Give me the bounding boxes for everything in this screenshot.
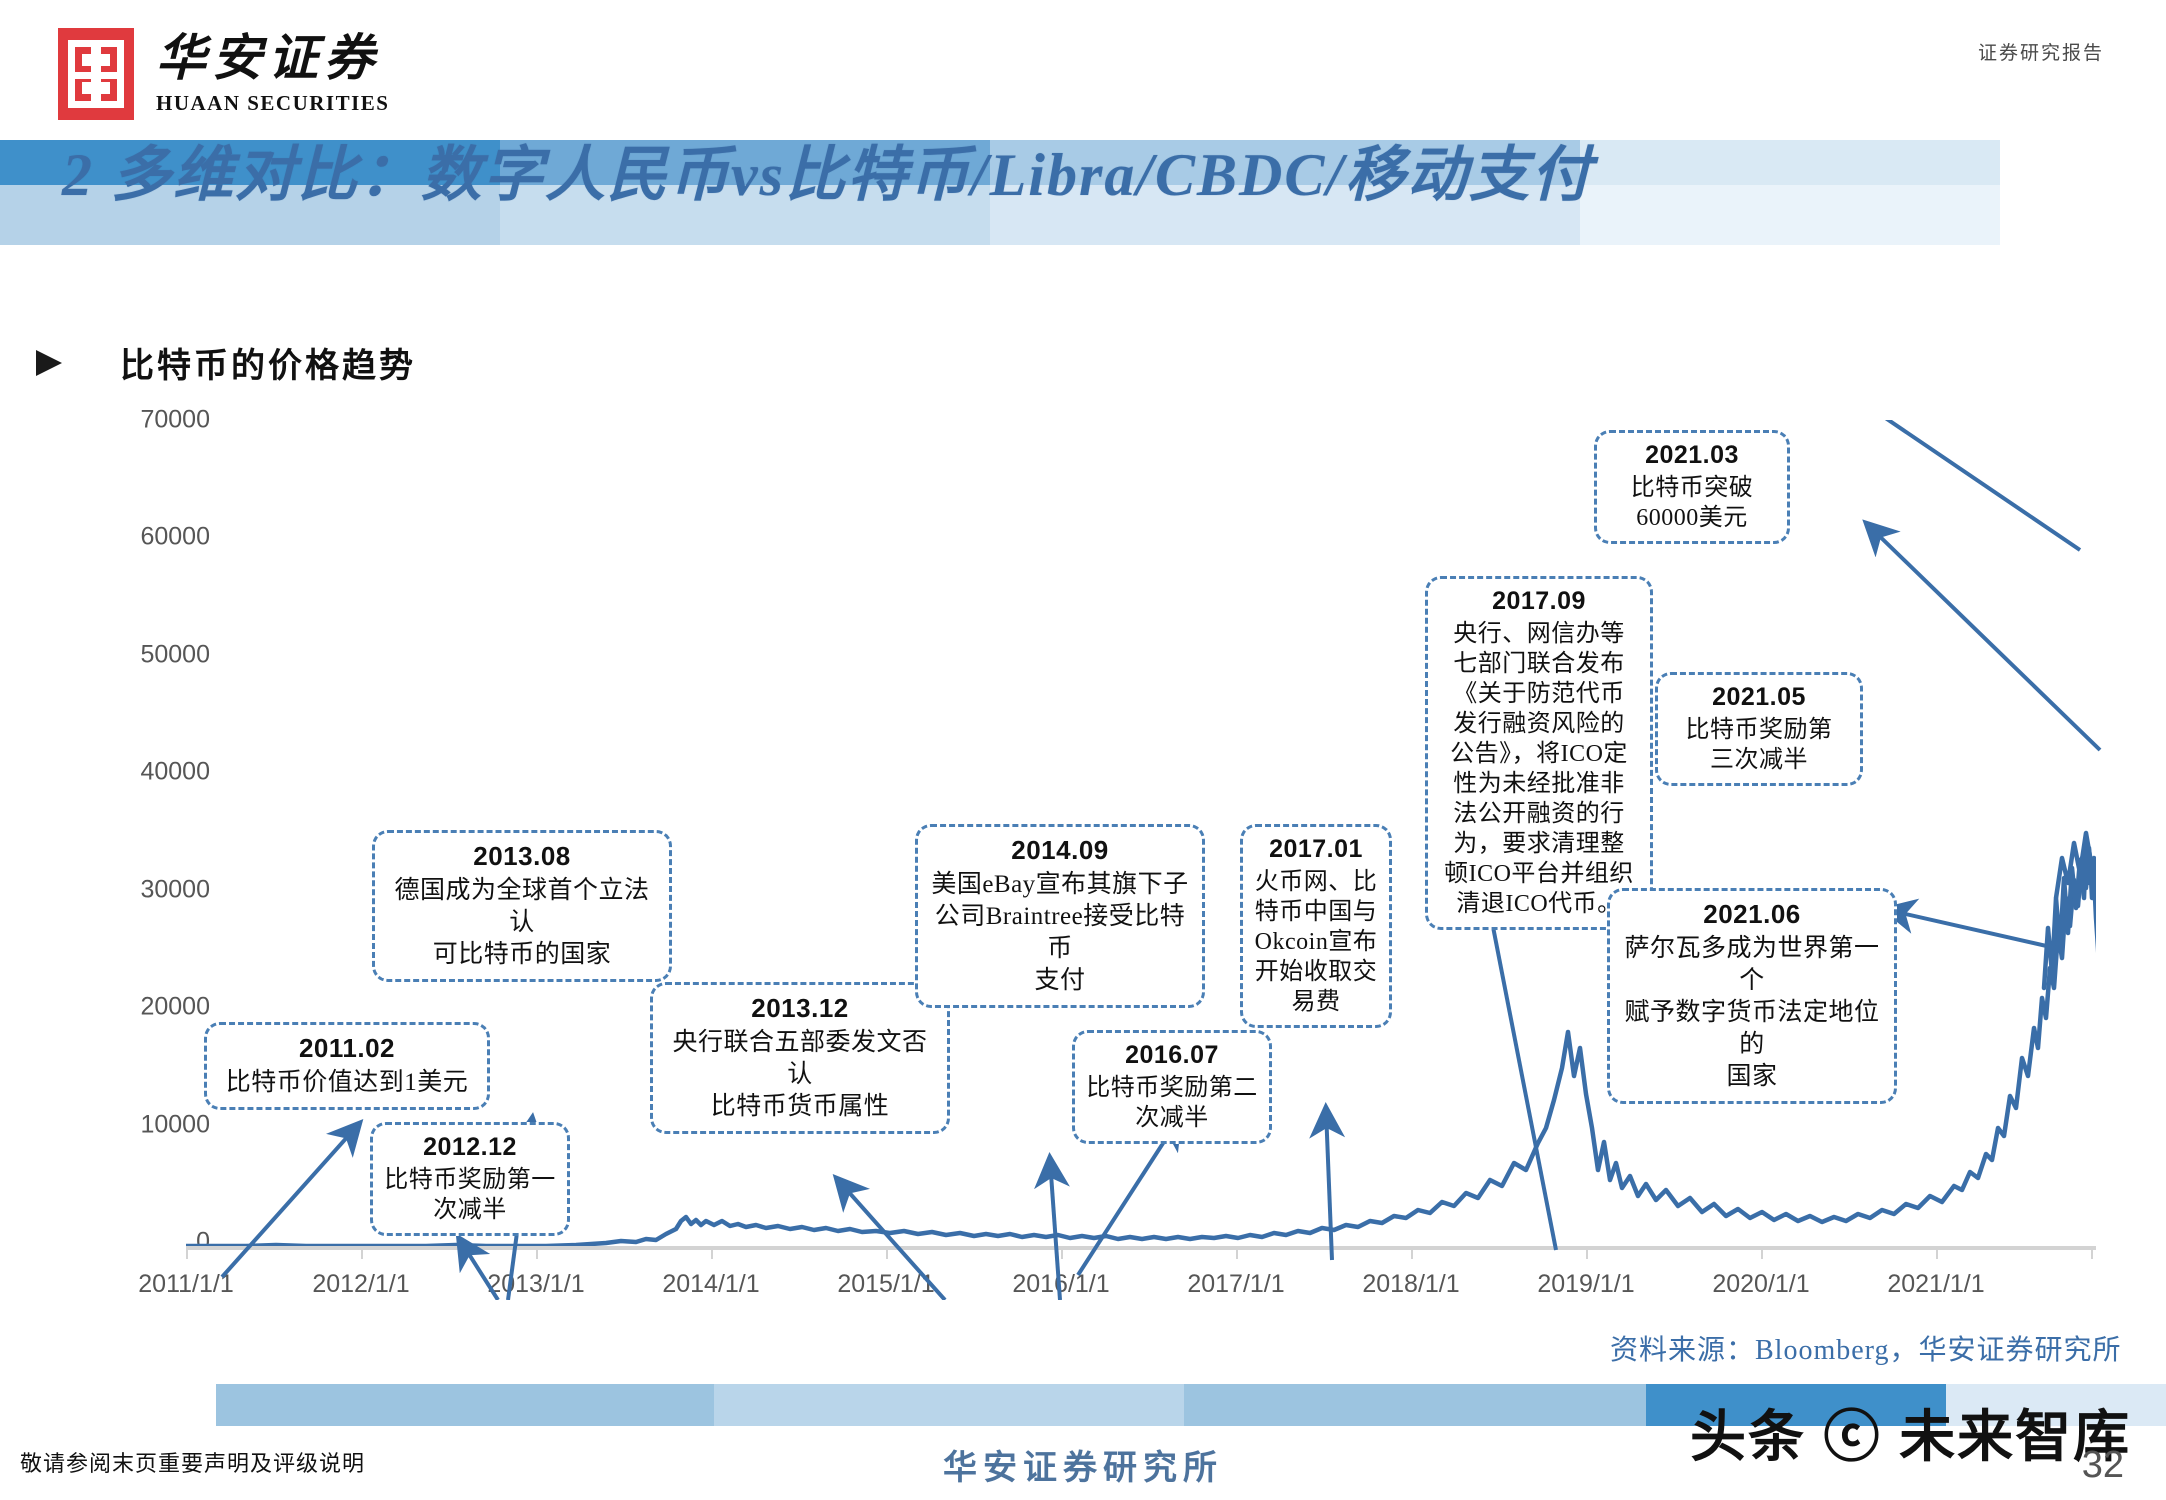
callout-date: 2021.06 — [1620, 899, 1884, 930]
x-tick-label: 2017/1/1 — [1187, 1270, 1284, 1299]
callout-text: 法公开融资的行 — [1438, 799, 1640, 829]
section-bullet: 比特币的价格趋势 — [36, 338, 416, 387]
callout-text: 性为未经批准非 — [1438, 769, 1640, 799]
callout-date: 2017.01 — [1253, 835, 1379, 864]
report-type-label: 证券研究报告 — [1978, 38, 2104, 65]
logo-text-en: HUAAN SECURITIES — [156, 91, 389, 116]
triangle-right-icon — [36, 350, 62, 376]
callout-text: 比特币奖励第一 — [383, 1165, 557, 1195]
x-tick-label: 2021/1/1 — [1887, 1270, 1984, 1299]
callout-text: 次减半 — [1085, 1103, 1259, 1133]
x-tick-label: 2012/1/1 — [312, 1270, 409, 1299]
callout-2016-07[interactable]: 2016.07 比特币奖励第二 次减半 — [1072, 1030, 1272, 1144]
callout-text: 七部门联合发布 — [1438, 649, 1640, 679]
callout-date: 2013.08 — [385, 841, 659, 872]
callout-text: 比特币突破 — [1607, 473, 1777, 503]
callout-text: 比特币货币属性 — [663, 1091, 937, 1123]
callout-text: 顿ICO平台并组织 — [1438, 859, 1640, 889]
callout-text: 萨尔瓦多成为世界第一个 — [1620, 933, 1884, 997]
callout-2014-09[interactable]: 2014.09 美国eBay宣布其旗下子 公司Braintree接受比特币 支付 — [915, 824, 1205, 1008]
callout-text: Okcoin宣布 — [1253, 927, 1379, 957]
slide-page: 证券研究报告 华安证券 HUAAN SECURITIES 2 多维对比：数字人民… — [0, 0, 2166, 1500]
callout-text: 比特币奖励第二 — [1085, 1073, 1259, 1103]
callout-text: 特币中国与 — [1253, 897, 1379, 927]
x-tick-label: 2011/1/1 — [138, 1270, 233, 1299]
callout-text: 央行联合五部委发文否认 — [663, 1027, 937, 1091]
company-logo: 华安证券 HUAAN SECURITIES — [58, 28, 389, 120]
page-number: 32 — [2082, 1444, 2124, 1487]
x-tick-label: 2013/1/1 — [487, 1270, 584, 1299]
x-axis-line — [186, 1246, 2096, 1250]
callout-date: 2013.12 — [663, 993, 937, 1024]
callout-text: 支付 — [928, 965, 1192, 997]
x-tick-label: 2019/1/1 — [1537, 1270, 1634, 1299]
callout-text: 德国成为全球首个立法认 — [385, 875, 659, 939]
callout-2013-08[interactable]: 2013.08 德国成为全球首个立法认 可比特币的国家 — [372, 830, 672, 982]
callout-2021-05[interactable]: 2021.05 比特币奖励第 三次减半 — [1655, 672, 1863, 786]
callout-text: 比特币奖励第 — [1668, 715, 1850, 745]
callout-date: 2021.05 — [1668, 683, 1850, 712]
x-tick-label: 2016/1/1 — [1012, 1270, 1109, 1299]
huaan-logo-mark-icon — [58, 28, 134, 120]
callout-date: 2016.07 — [1085, 1041, 1259, 1070]
callout-date: 2011.02 — [217, 1033, 477, 1064]
logo-text-cn: 华安证券 — [156, 33, 389, 83]
x-tick-label: 2015/1/1 — [837, 1270, 934, 1299]
callout-date: 2012.12 — [383, 1133, 557, 1162]
callout-text: 发行融资风险的 — [1438, 709, 1640, 739]
callout-text: 赋予数字货币法定地位的 — [1620, 997, 1884, 1061]
callout-text: 易费 — [1253, 987, 1379, 1017]
watermark-label: 头条 ⓒ 未来智库 — [1690, 1392, 2131, 1473]
callout-2021-03[interactable]: 2021.03 比特币突破 60000美元 — [1594, 430, 1790, 544]
callout-date: 2017.09 — [1438, 587, 1640, 616]
callout-text: 次减半 — [383, 1195, 557, 1225]
callout-2012-12[interactable]: 2012.12 比特币奖励第一 次减半 — [370, 1122, 570, 1236]
callout-text: 可比特币的国家 — [385, 939, 659, 971]
page-title: 2 多维对比：数字人民币vs比特币/Libra/CBDC/移动支付 — [62, 126, 1593, 213]
callout-text: 美国eBay宣布其旗下子 — [928, 869, 1192, 901]
callout-text: 开始收取交 — [1253, 957, 1379, 987]
x-tick-label: 2014/1/1 — [662, 1270, 759, 1299]
callout-text: 60000美元 — [1607, 503, 1777, 533]
callout-text: 国家 — [1620, 1061, 1884, 1093]
callout-text: 央行、网信办等 — [1438, 619, 1640, 649]
callout-text: 火币网、比 — [1253, 867, 1379, 897]
callout-date: 2014.09 — [928, 835, 1192, 866]
callout-text: 公司Braintree接受比特币 — [928, 901, 1192, 965]
callout-text: 《关于防范代币 — [1438, 679, 1640, 709]
x-tick-label: 2020/1/1 — [1712, 1270, 1809, 1299]
callout-2021-06[interactable]: 2021.06 萨尔瓦多成为世界第一个 赋予数字货币法定地位的 国家 — [1607, 888, 1897, 1104]
callout-2017-01[interactable]: 2017.01 火币网、比 特币中国与 Okcoin宣布 开始收取交 易费 — [1240, 824, 1392, 1028]
section-bullet-label: 比特币的价格趋势 — [120, 338, 416, 387]
x-tick-label: 2018/1/1 — [1362, 1270, 1459, 1299]
callout-text: 三次减半 — [1668, 745, 1850, 775]
callout-2013-12[interactable]: 2013.12 央行联合五部委发文否认 比特币货币属性 — [650, 982, 950, 1134]
callout-2011-02[interactable]: 2011.02 比特币价值达到1美元 — [204, 1022, 490, 1110]
callout-date: 2021.03 — [1607, 441, 1777, 470]
callout-text: 比特币价值达到1美元 — [217, 1067, 477, 1099]
chart-source-note: 资料来源：Bloomberg，华安证券研究所 — [1610, 1328, 2121, 1368]
callout-text: 公告》，将ICO定 — [1438, 739, 1640, 769]
callout-2017-09[interactable]: 2017.09 央行、网信办等 七部门联合发布 《关于防范代币 发行融资风险的 … — [1425, 576, 1653, 930]
section-banner: 2 多维对比：数字人民币vs比特币/Libra/CBDC/移动支付 — [0, 140, 2000, 245]
callout-text: 为，要求清理整 — [1438, 829, 1640, 859]
